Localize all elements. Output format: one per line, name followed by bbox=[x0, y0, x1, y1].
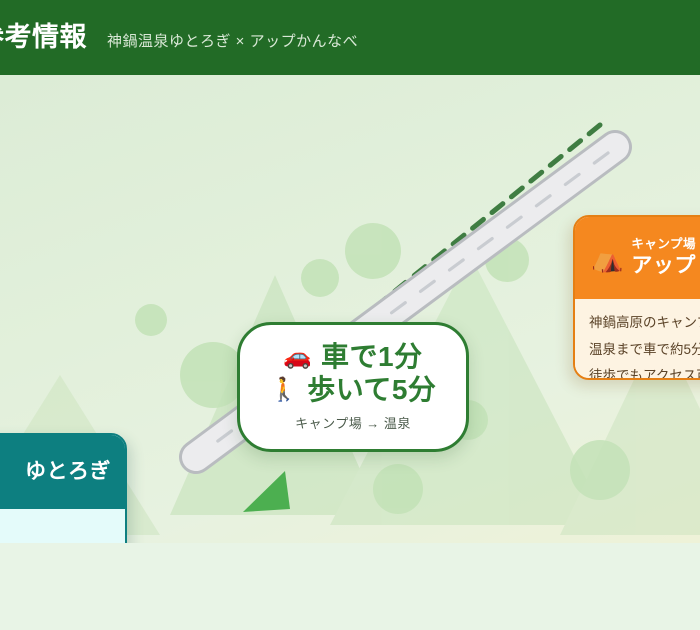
walk-duration-label: 歩いて5分 bbox=[307, 375, 436, 404]
card-campsite-title: アップ bbox=[631, 253, 696, 279]
tent-icon: ⛺ bbox=[591, 245, 623, 271]
card-campsite[interactable]: ⛺ キャンプ場 アップ 神鍋高原のキャンプ 温泉まで車で約5分 徒歩でもアクセス… bbox=[573, 215, 700, 380]
car-duration-label: 車で1分 bbox=[321, 342, 423, 371]
card-campsite-line-1: 神鍋高原のキャンプ bbox=[589, 313, 700, 333]
card-campsite-heading-texts: キャンプ場 アップ bbox=[631, 237, 696, 279]
card-campsite-eyebrow: キャンプ場 bbox=[631, 237, 696, 253]
route-label: キャンプ場 → 温泉 bbox=[295, 413, 411, 432]
callout-row-walk: 🚶 歩いて5分 bbox=[270, 375, 437, 404]
page-subtitle: 神鍋温泉ゆとろぎ × アップかんなべ bbox=[107, 34, 358, 49]
page-header: めの参考情報 神鍋温泉ゆとろぎ × アップかんなべ bbox=[0, 0, 700, 75]
map-canvas: 🚗 車で1分 🚶 歩いて5分 キャンプ場 → 温泉 ⛺ キャンプ場 アップ 神鍋… bbox=[0, 75, 700, 543]
card-campsite-header: ⛺ キャンプ場 アップ bbox=[575, 217, 700, 299]
distance-callout: 🚗 車で1分 🚶 歩いて5分 キャンプ場 → 温泉 bbox=[237, 322, 469, 452]
card-campsite-line-3: 徒歩でもアクセス可 bbox=[589, 366, 700, 380]
card-onsen-title: ゆとろぎ bbox=[25, 459, 111, 485]
walking-person-icon: 🚶 bbox=[270, 378, 299, 401]
card-onsen-line-1: 施設。 bbox=[0, 523, 111, 543]
page-root: めの参考情報 神鍋温泉ゆとろぎ × アップかんなべ bbox=[0, 0, 700, 630]
callout-row-car: 🚗 車で1分 bbox=[283, 342, 422, 371]
card-campsite-line-2: 温泉まで車で約5分 bbox=[589, 340, 700, 360]
header-inner: めの参考情報 神鍋温泉ゆとろぎ × アップかんなべ bbox=[0, 24, 358, 51]
card-onsen-body: 施設。 の湯)。 00〜 bbox=[0, 509, 125, 543]
car-icon: 🚗 bbox=[283, 345, 312, 368]
page-title: めの参考情報 bbox=[0, 24, 87, 51]
card-onsen-heading-texts: ゆとろぎ bbox=[25, 459, 111, 485]
card-campsite-body: 神鍋高原のキャンプ 温泉まで車で約5分 徒歩でもアクセス可 bbox=[575, 299, 700, 380]
card-onsen[interactable]: ゆとろぎ 施設。 の湯)。 00〜 bbox=[0, 433, 127, 543]
card-onsen-header: ゆとろぎ bbox=[0, 435, 125, 509]
